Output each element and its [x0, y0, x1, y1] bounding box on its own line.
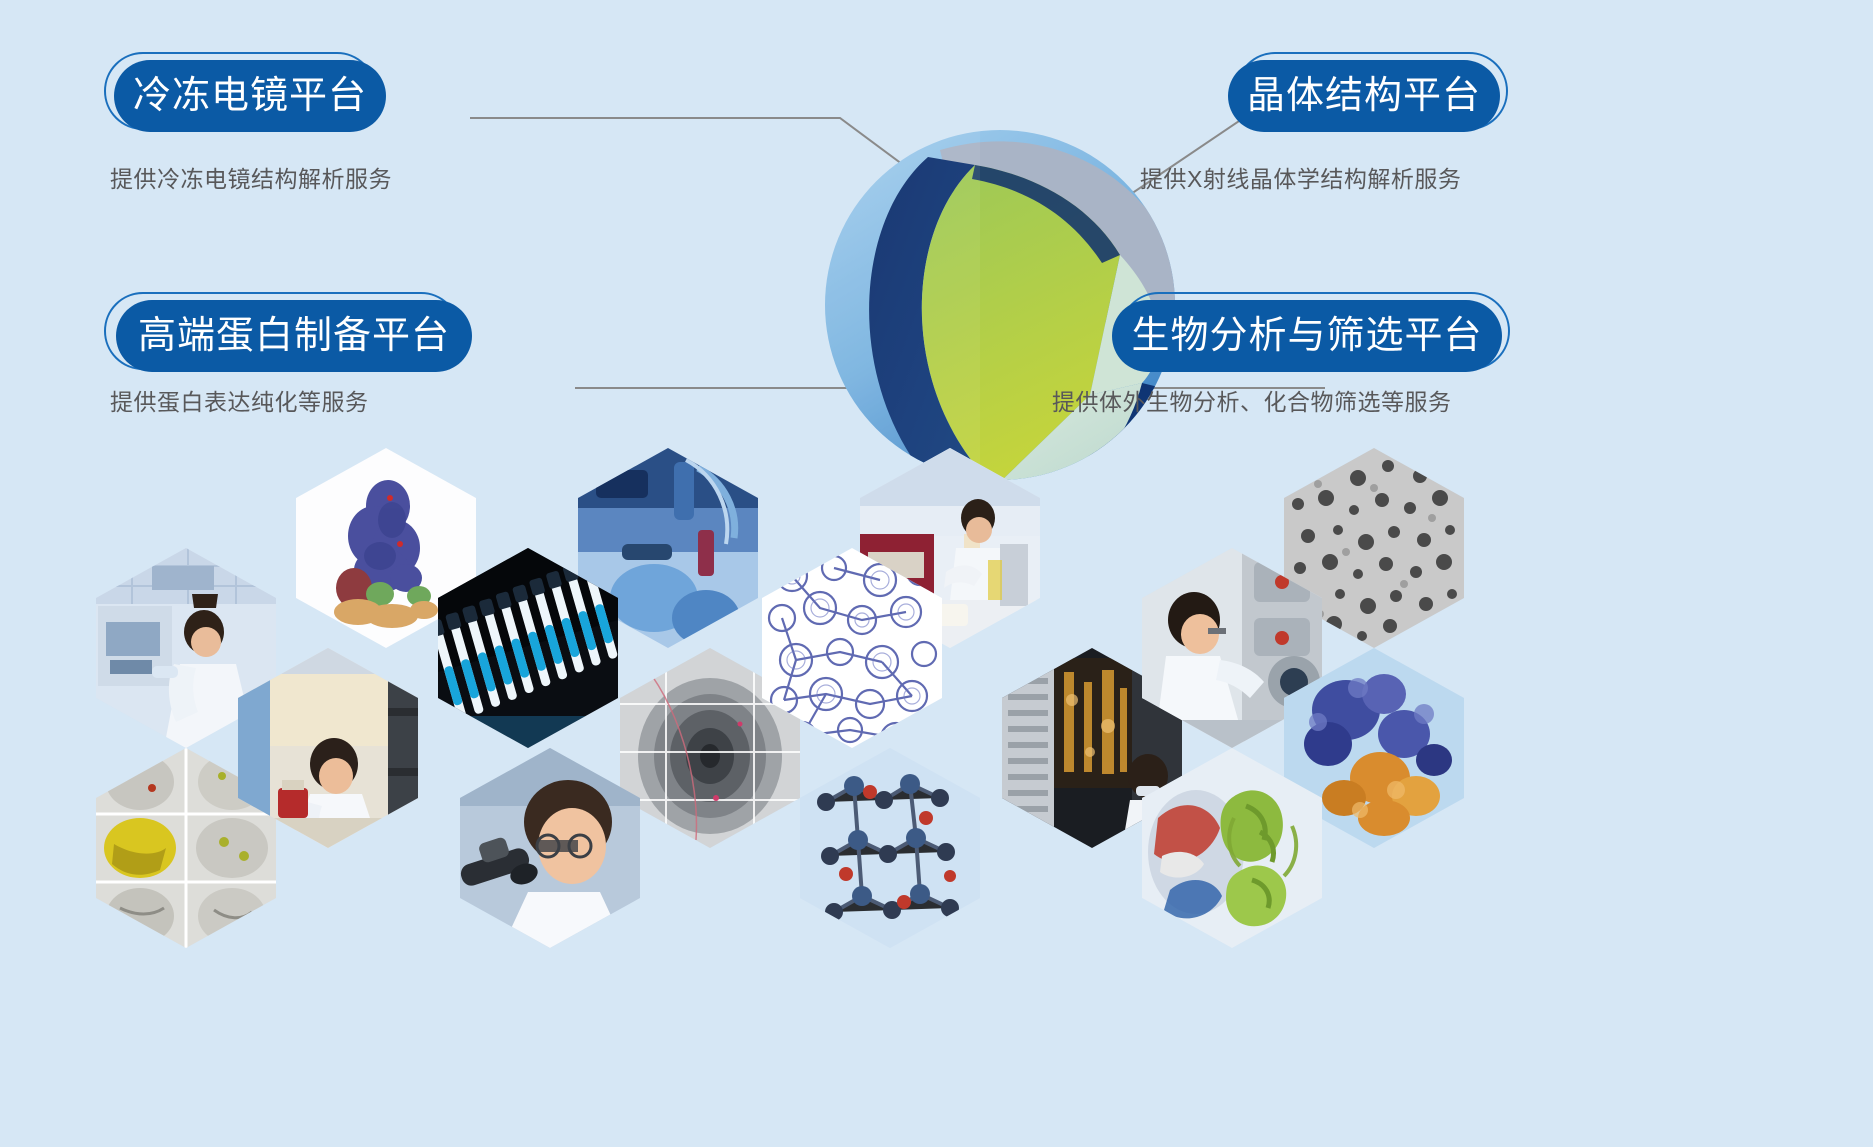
platform-subtitle-bio-analysis: 提供体外生物分析、化合物筛选等服务	[1052, 383, 1452, 417]
platform-subtitle-crystal-structure: 提供X射线晶体学结构解析服务	[1140, 160, 1461, 194]
platform-title-cryo-em: 冷冻电镜平台	[133, 77, 367, 115]
platform-title-protein-prep: 高端蛋白制备平台	[138, 317, 450, 355]
platform-subtitle-protein-prep: 提供蛋白表达纯化等服务	[110, 383, 369, 417]
platform-badge-protein-prep[interactable]: 高端蛋白制备平台	[104, 292, 474, 374]
badge-fill: 高端蛋白制备平台	[116, 300, 472, 372]
platform-subtitle-cryo-em: 提供冷冻电镜结构解析服务	[110, 160, 392, 194]
hex-tile-woman-at-microscope	[460, 748, 640, 948]
badge-fill: 生物分析与筛选平台	[1112, 300, 1502, 372]
platform-badge-bio-analysis[interactable]: 生物分析与筛选平台	[1112, 292, 1512, 374]
badge-fill: 晶体结构平台	[1228, 60, 1500, 132]
hex-tile-small-molecule-ball-and-stick	[800, 748, 980, 948]
platform-badge-cryo-em[interactable]: 冷冻电镜平台	[104, 52, 384, 134]
platform-badge-crystal-structure[interactable]: 晶体结构平台	[1228, 52, 1508, 134]
badge-fill: 冷冻电镜平台	[114, 60, 386, 132]
platform-title-crystal-structure: 晶体结构平台	[1247, 77, 1481, 115]
platform-title-bio-analysis: 生物分析与筛选平台	[1131, 317, 1482, 355]
poster-canvas: 冷冻电镜平台 提供冷冻电镜结构解析服务 晶体结构平台 提供X射线晶体学结构解析服…	[0, 0, 1873, 1147]
